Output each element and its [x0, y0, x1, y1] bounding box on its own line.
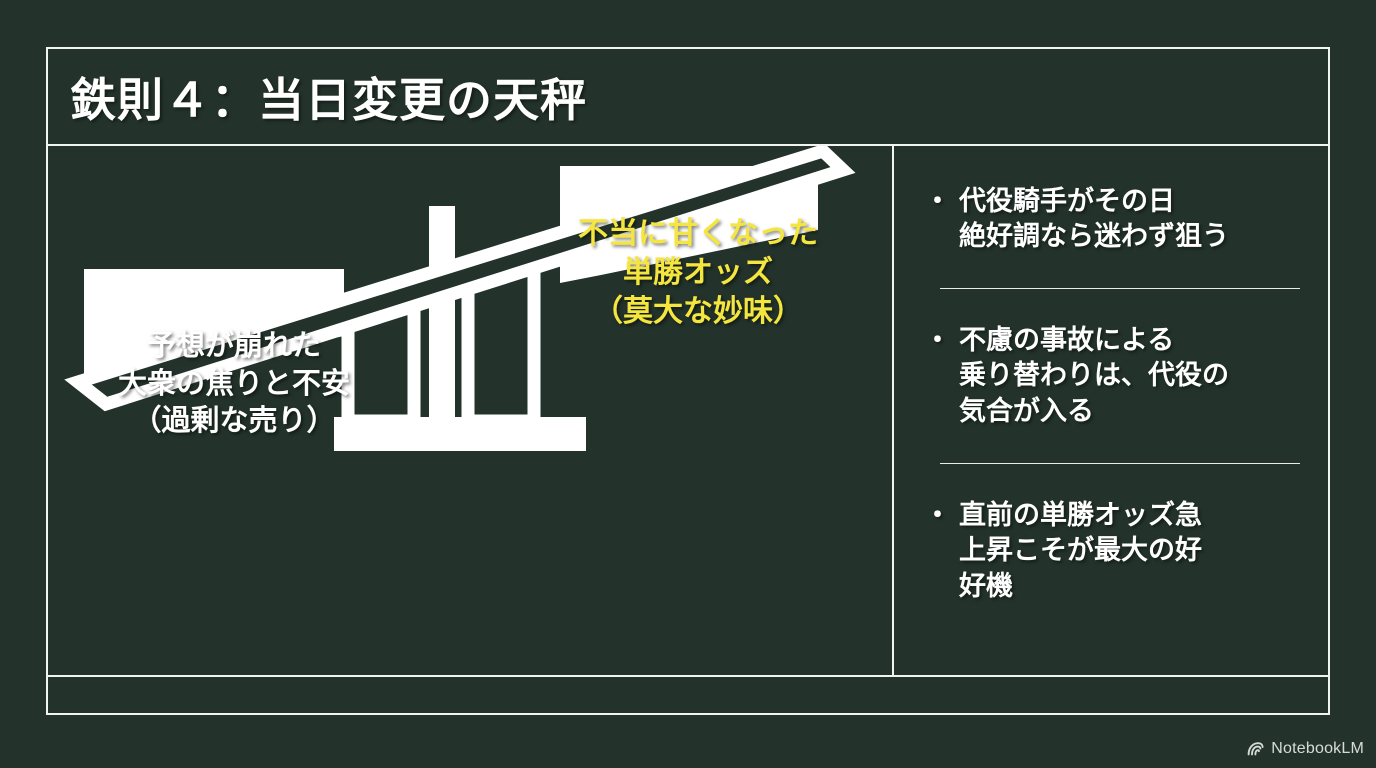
bullet-divider — [940, 288, 1300, 289]
bullet-divider — [940, 463, 1300, 464]
bullet-block: ・ 代役騎手がその日 絶好調なら迷わず狙う — [924, 172, 1302, 266]
title-band: 鉄則４：当日変更の天秤 — [48, 49, 1328, 146]
slide-frame: 鉄則４：当日変更の天秤 予想が崩れた 大衆の焦りと不安 （過剰な売り） — [46, 47, 1330, 715]
bullet-marker-icon: ・ — [924, 498, 951, 533]
notebooklm-label: NotebookLM — [1271, 740, 1364, 758]
diagram-label-right: 不当に甘くなった 単勝オッズ （莫大な妙味） — [528, 214, 868, 331]
bullet-marker-icon: ・ — [924, 184, 951, 219]
list-item: ・ 不慮の事故による 乗り替わりは、代役の 気合が入る — [924, 323, 1302, 428]
list-item-label: 代役騎手がその日 絶好調なら迷わず狙う — [959, 184, 1229, 254]
list-item: ・ 直前の単勝オッズ急 上昇こそが最大の好 好機 — [924, 498, 1302, 603]
footer-band — [48, 675, 1328, 713]
bullet-marker-icon: ・ — [924, 323, 951, 358]
fulcrum-center-bar — [429, 206, 455, 418]
slide-body: 予想が崩れた 大衆の焦りと不安 （過剰な売り） 不当に甘くなった 単勝オッズ （… — [48, 146, 1328, 677]
diagram-panel: 予想が崩れた 大衆の焦りと不安 （過剰な売り） 不当に甘くなった 単勝オッズ （… — [48, 146, 894, 675]
bullet-block: ・ 直前の単勝オッズ急 上昇こそが最大の好 好機 — [924, 486, 1302, 616]
list-item: ・ 代役騎手がその日 絶好調なら迷わず狙う — [924, 184, 1302, 254]
bullet-panel: ・ 代役騎手がその日 絶好調なら迷わず狙う ・ 不慮の事故による 乗り替わりは、… — [894, 146, 1328, 675]
list-item-label: 不慮の事故による 乗り替わりは、代役の 気合が入る — [959, 323, 1229, 428]
notebooklm-logo-icon — [1246, 741, 1264, 757]
list-item-label: 直前の単勝オッズ急 上昇こそが最大の好 好機 — [959, 498, 1202, 603]
page-title: 鉄則４：当日変更の天秤 — [70, 64, 587, 130]
bullet-block: ・ 不慮の事故による 乗り替わりは、代役の 気合が入る — [924, 311, 1302, 441]
notebooklm-watermark: NotebookLM — [1246, 740, 1364, 758]
diagram-label-left: 予想が崩れた 大衆の焦りと不安 （過剰な売り） — [74, 328, 394, 441]
